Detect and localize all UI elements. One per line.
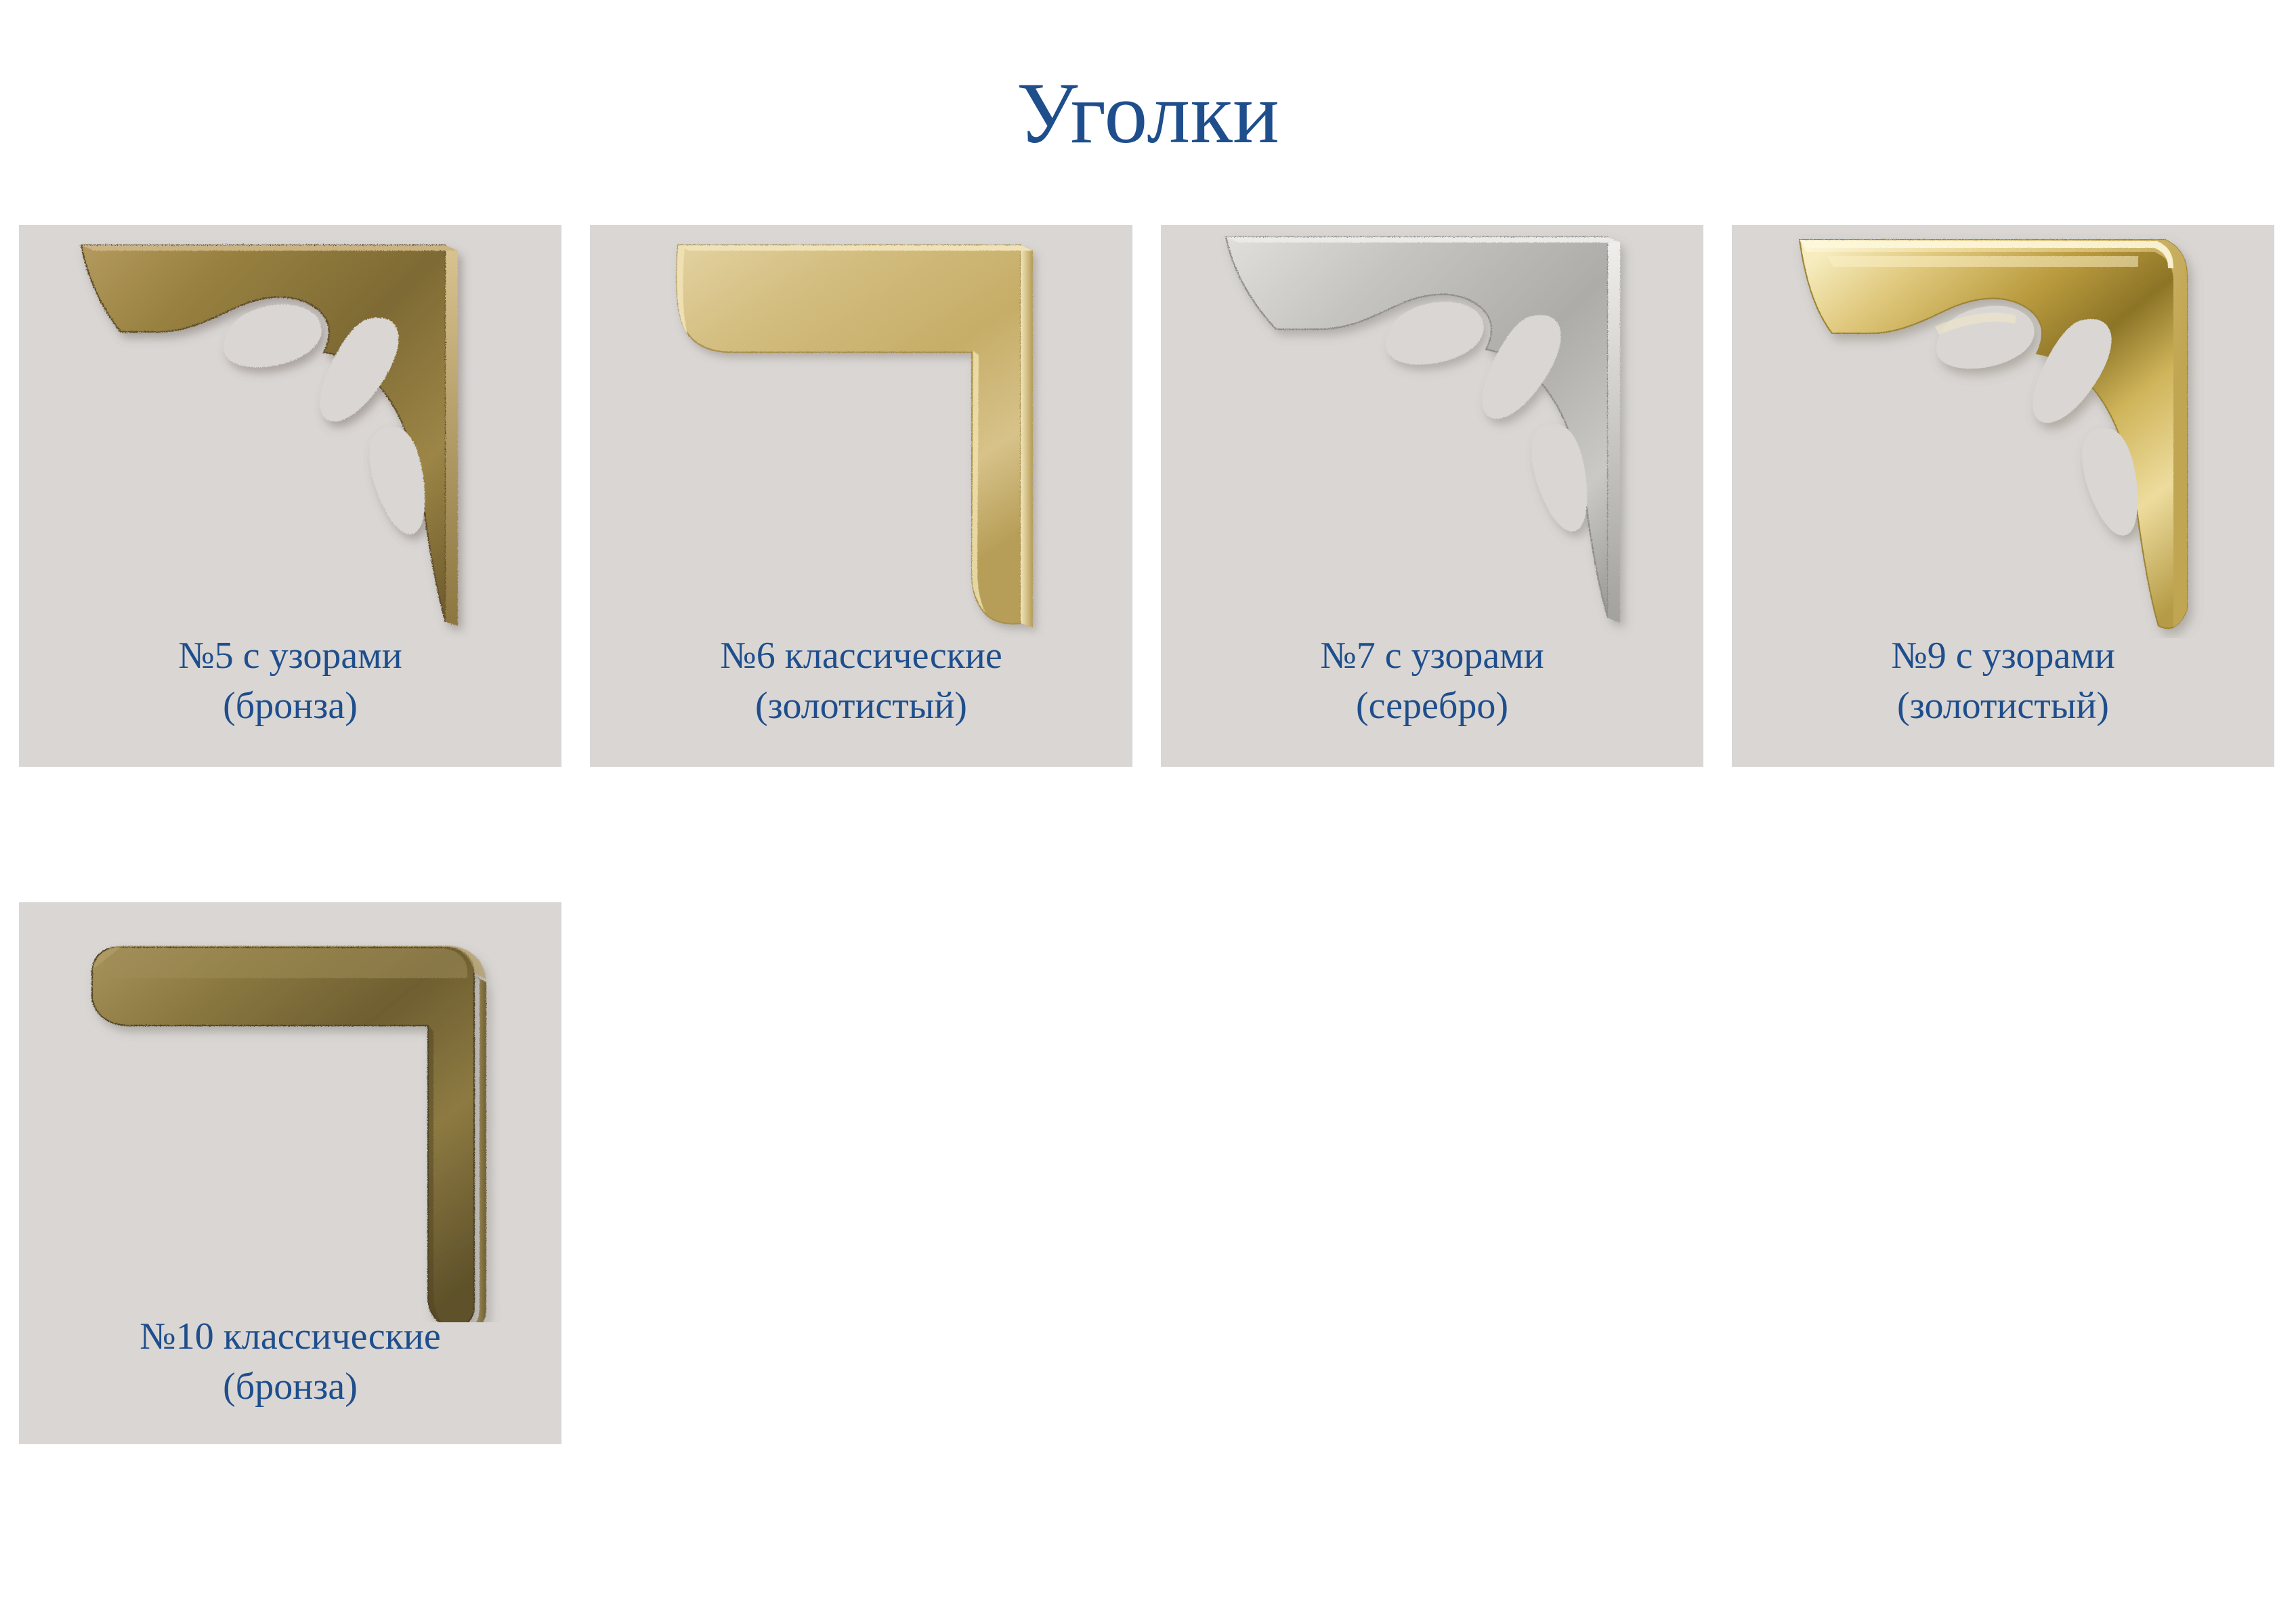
page-title: Уголки (0, 64, 2296, 163)
corner-bracket-ornate-polished-icon (1732, 225, 2274, 638)
product-card[interactable]: №7 с узорами (серебро) (1161, 225, 1703, 767)
product-card[interactable]: №9 с узорами (золотистый) (1732, 225, 2274, 767)
product-name-line1: №6 классические (720, 635, 1002, 677)
product-card[interactable]: №6 классические (золотистый) (590, 225, 1132, 767)
product-card[interactable]: №5 с узорами (бронза) (19, 225, 561, 767)
product-caption: №6 классические (золотистый) (590, 631, 1132, 732)
product-caption: №9 с узорами (золотистый) (1732, 631, 2274, 732)
product-name-line2: (золотистый) (1744, 681, 2262, 732)
product-caption: №7 с узорами (серебро) (1161, 631, 1703, 732)
product-grid-row: №10 классические (бронза) (19, 902, 2283, 1444)
product-name-line1: №7 с узорами (1320, 635, 1544, 677)
product-grid-row: №5 с узорами (бронза) (19, 225, 2283, 767)
product-caption: №5 с узорами (бронза) (19, 631, 561, 732)
product-caption: №10 классические (бронза) (19, 1312, 561, 1412)
corner-bracket-ornate-icon (1161, 225, 1703, 638)
product-name-line1: №5 с узорами (178, 635, 402, 677)
corner-bracket-ornate-icon (19, 225, 561, 638)
product-name-line2: (бронза) (31, 681, 549, 732)
corner-bracket-classic-icon (19, 902, 561, 1322)
product-name-line2: (серебро) (1173, 681, 1691, 732)
product-card[interactable]: №10 классические (бронза) (19, 902, 561, 1444)
product-name-line1: №10 классические (140, 1315, 440, 1357)
product-name-line2: (золотистый) (602, 681, 1120, 732)
corner-bracket-classic-icon (590, 225, 1132, 638)
product-name-line2: (бронза) (31, 1362, 549, 1412)
product-name-line1: №9 с узорами (1891, 635, 2114, 677)
product-grid: №5 с узорами (бронза) (19, 225, 2283, 1444)
